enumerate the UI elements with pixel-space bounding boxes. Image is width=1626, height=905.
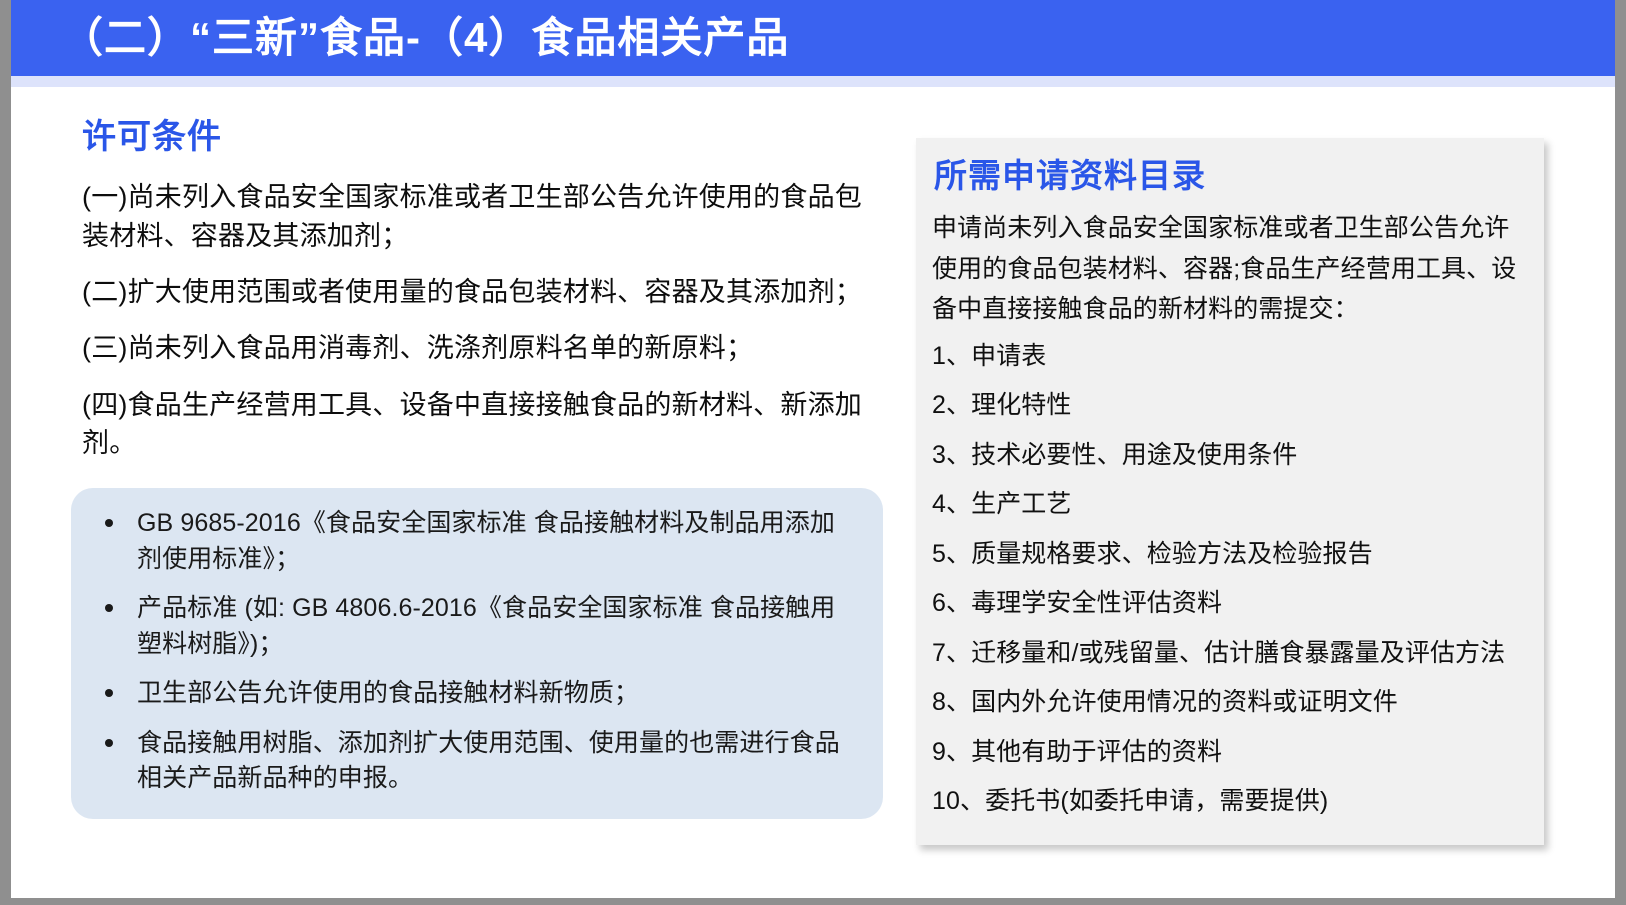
required-documents-list: 1、申请表 2、理化特性 3、技术必要性、用途及使用条件 4、生产工艺 5、质量… [930,340,1530,818]
page-bottom-divider [11,898,1615,905]
list-item: 9、其他有助于评估的资料 [932,736,1530,769]
page-title: （二）“三新”食品-（4）食品相关产品 [61,17,789,59]
list-item-label: 产品标准 (如: GB 4806.6-2016《食品安全国家标准 食品接触用塑料… [137,594,835,658]
section-title-permit-conditions: 许可条件 [82,119,883,156]
required-documents-intro: 申请尚未列入食品安全国家标准或者卫生部公告允许使用的食品包装材料、容器;食品生产… [932,208,1530,330]
header-accent-band [11,76,1615,87]
list-item: (二)扩大使用范围或者使用量的食品包装材料、容器及其添加剂； [82,273,883,311]
list-item: (三)尚未列入食品用消毒剂、洗涤剂原料名单的新原料； [82,329,883,367]
standards-bullet-list: GB 9685-2016《食品安全国家标准 食品接触材料及制品用添加剂使用标准》… [89,506,855,797]
list-item: 卫生部公告允许使用的食品接触材料新物质； [89,676,855,712]
bullet-icon [105,604,113,612]
list-item: 产品标准 (如: GB 4806.6-2016《食品安全国家标准 食品接触用塑料… [89,591,855,662]
list-item: 4、生产工艺 [932,488,1530,521]
bullet-icon [105,689,113,697]
list-item: 1、申请表 [932,340,1530,373]
list-item: 7、迁移量和/或残留量、估计膳食暴露量及评估方法 [932,637,1530,670]
slide-header-bar: （二）“三新”食品-（4）食品相关产品 [11,0,1615,76]
section-title-required-documents: 所需申请资料目录 [934,158,1530,194]
list-item: 5、质量规格要求、检验方法及检验报告 [932,538,1530,571]
slide-content: 许可条件 (一)尚未列入食品安全国家标准或者卫生部公告允许使用的食品包装材料、容… [11,87,1615,898]
list-item: GB 9685-2016《食品安全国家标准 食品接触材料及制品用添加剂使用标准》… [89,506,855,577]
list-item-label: 卫生部公告允许使用的食品接触材料新物质； [137,679,639,707]
permit-conditions-column: 许可条件 (一)尚未列入食品安全国家标准或者卫生部公告允许使用的食品包装材料、容… [71,119,883,819]
list-item-label: GB 9685-2016《食品安全国家标准 食品接触材料及制品用添加剂使用标准》… [137,509,835,573]
list-item: 3、技术必要性、用途及使用条件 [932,439,1530,472]
required-documents-panel: 所需申请资料目录 申请尚未列入食品安全国家标准或者卫生部公告允许使用的食品包装材… [916,138,1544,845]
list-item: 8、国内外允许使用情况的资料或证明文件 [932,686,1530,719]
list-item: 10、委托书(如委托申请，需要提供) [932,785,1530,818]
list-item: 食品接触用树脂、添加剂扩大使用范围、使用量的也需进行食品相关产品新品种的申报。 [89,726,855,797]
list-item: (四)食品生产经营用工具、设备中直接接触食品的新材料、新添加剂。 [82,386,883,463]
permit-conditions-list: (一)尚未列入食品安全国家标准或者卫生部公告允许使用的食品包装材料、容器及其添加… [71,178,883,462]
standards-note-box: GB 9685-2016《食品安全国家标准 食品接触材料及制品用添加剂使用标准》… [71,488,883,819]
list-item: 2、理化特性 [932,389,1530,422]
bullet-icon [105,519,113,527]
slide-canvas: （二）“三新”食品-（4）食品相关产品 许可条件 (一)尚未列入食品安全国家标准… [0,0,1626,905]
list-item: 6、毒理学安全性评估资料 [932,587,1530,620]
list-item-label: 食品接触用树脂、添加剂扩大使用范围、使用量的也需进行食品相关产品新品种的申报。 [137,729,840,793]
bullet-icon [105,739,113,747]
list-item: (一)尚未列入食品安全国家标准或者卫生部公告允许使用的食品包装材料、容器及其添加… [82,178,883,255]
